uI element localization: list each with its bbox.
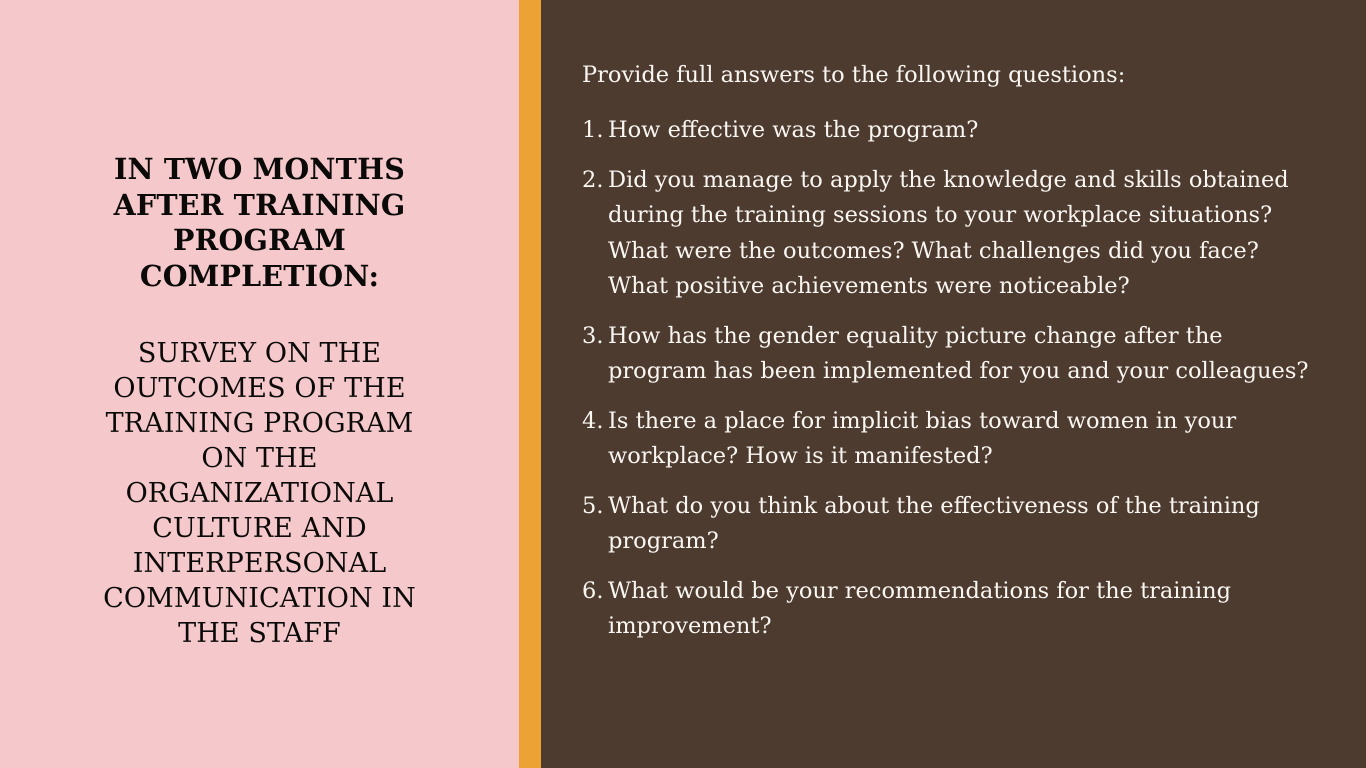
vertical-divider [519, 0, 541, 768]
question-number: 5. [582, 489, 608, 525]
left-panel: In two months after training program com… [0, 0, 519, 768]
list-item: 1. How effective was the program? [582, 113, 1310, 149]
question-number: 3. [582, 319, 608, 355]
list-item: 5. What do you think about the effective… [582, 489, 1310, 560]
intro-text: Provide full answers to the following qu… [582, 60, 1310, 91]
page-title: In two months after training program com… [100, 152, 420, 294]
subtitle-block: Survey on the outcomes of the training p… [95, 336, 425, 651]
question-number: 2. [582, 163, 608, 199]
question-list: 1. How effective was the program? 2. Did… [582, 113, 1310, 645]
list-item: 4. Is there a place for implicit bias to… [582, 404, 1310, 475]
question-number: 4. [582, 404, 608, 440]
question-text: Did you manage to apply the knowledge an… [608, 163, 1310, 305]
list-item: 3. How has the gender equality picture c… [582, 319, 1310, 390]
list-item: 2. Did you manage to apply the knowledge… [582, 163, 1310, 305]
question-text: What do you think about the effectivenes… [608, 489, 1310, 560]
list-item: 6. What would be your recommendations fo… [582, 574, 1310, 645]
title-block: In two months after training program com… [100, 152, 420, 294]
question-text: How effective was the program? [608, 113, 1310, 149]
question-text: How has the gender equality picture chan… [608, 319, 1310, 390]
slide: In two months after training program com… [0, 0, 1366, 768]
question-number: 1. [582, 113, 608, 149]
page-subtitle: Survey on the outcomes of the training p… [95, 336, 425, 651]
right-panel: Provide full answers to the following qu… [541, 0, 1366, 768]
question-number: 6. [582, 574, 608, 610]
question-text: Is there a place for implicit bias towar… [608, 404, 1310, 475]
question-text: What would be your recommendations for t… [608, 574, 1310, 645]
